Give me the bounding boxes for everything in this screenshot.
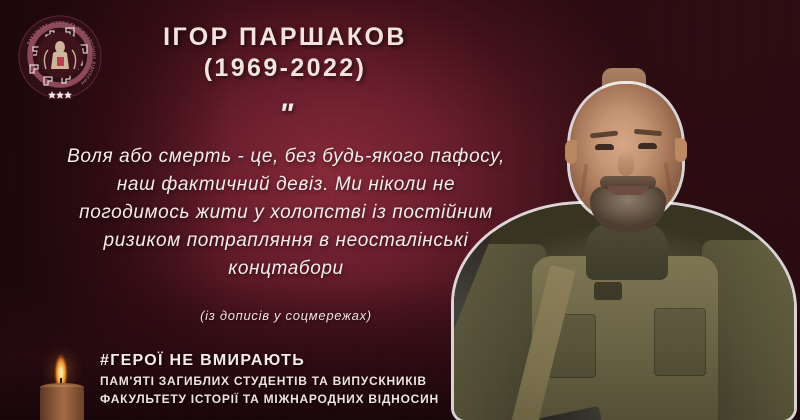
vest-patch <box>594 282 622 300</box>
quotation-mark-icon: " <box>0 98 570 132</box>
eye-left <box>595 144 614 150</box>
footer-line-2: ФАКУЛЬТЕТУ ІСТОРІЇ ТА МІЖНАРОДНИХ ВІДНОС… <box>100 391 500 408</box>
quote-attribution: (із дописів у соцмережах) <box>6 308 566 323</box>
quote-line-3: погодимось жити у холопстві із постійним <box>6 199 566 227</box>
title-years: (1969-2022) <box>110 53 460 84</box>
quote-line-4: ризиком потрапляння в неосталінські <box>6 227 566 255</box>
memorial-candle-icon <box>30 345 92 420</box>
title-name: ІГОР ПАРШАКОВ <box>163 23 407 51</box>
vest-pocket-right <box>654 308 706 376</box>
footer-block: #ГЕРОЇ НЕ ВМИРАЮТЬ ПАМ'ЯТІ ЗАГИБЛИХ СТУД… <box>100 352 500 408</box>
quote-line-5: концтабори <box>6 255 566 283</box>
memorial-poster: АЛЬНИЙ УНІВЕРСИТЕТ <box>0 0 800 420</box>
ear-right <box>675 138 687 162</box>
candle-body <box>40 387 84 420</box>
eye-right <box>638 143 657 149</box>
nose <box>618 150 634 176</box>
mouth-smile <box>608 186 648 195</box>
ear-left <box>565 140 577 164</box>
footer-line-1: ПАМ'ЯТІ ЗАГИБЛИХ СТУДЕНТІВ ТА ВИПУСКНИКІ… <box>100 373 500 390</box>
quote-line-1: Воля або смерть - це, без будь-якого паф… <box>6 143 566 171</box>
footer-hashtag: #ГЕРОЇ НЕ ВМИРАЮТЬ <box>100 352 500 370</box>
faculty-emblem-logo: ФАКУЛЬТЕТ ІСТОРІЇ ТА МІЖНАРОДНИХ ВІДНОСИ… <box>16 13 104 101</box>
memorial-title: ІГОР ПАРШАКОВ (1969-2022) <box>110 22 460 83</box>
quote-text: Воля або смерть - це, без будь-якого паф… <box>6 143 566 284</box>
emblem-icon: ФАКУЛЬТЕТ ІСТОРІЇ ТА МІЖНАРОДНИХ ВІДНОСИ… <box>16 13 104 101</box>
quote-line-2: наш фактичний девіз. Ми ніколи не <box>6 171 566 199</box>
